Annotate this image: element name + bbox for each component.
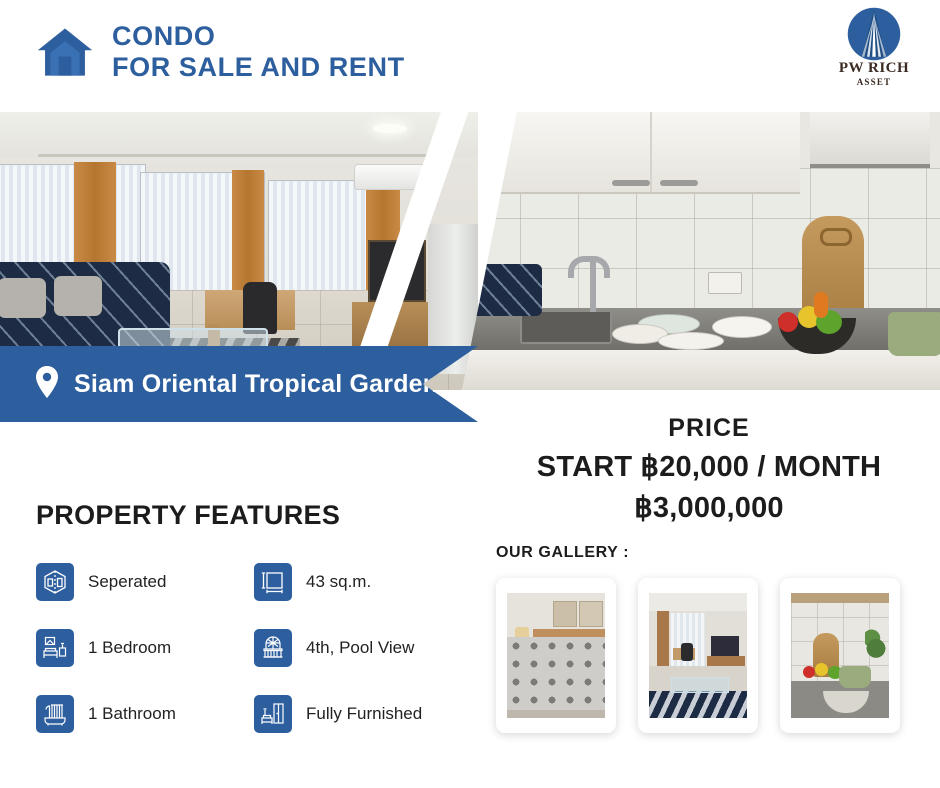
gallery-title: OUR GALLERY : [496, 544, 926, 562]
living-room-thumbnail [649, 593, 747, 718]
hero-kitchen-image [462, 112, 940, 390]
features-grid: Seperated 43 sq.m. [36, 563, 466, 733]
area-square-icon [254, 563, 292, 601]
feature-label: Seperated [88, 572, 166, 592]
feature-label: 1 Bathroom [88, 704, 176, 724]
feature-item-area: 43 sq.m. [254, 563, 472, 601]
feature-item-bathroom: 1 Bathroom [36, 695, 254, 733]
property-features-section: PROPERTY FEATURES Seperated [36, 500, 466, 733]
feature-item-seperated: Seperated [36, 563, 254, 601]
page-header: CONDO FOR SALE AND RENT PW RICH ASSET [0, 0, 940, 112]
gallery-row [496, 578, 926, 733]
furniture-icon [254, 695, 292, 733]
bedroom-thumbnail [507, 593, 605, 718]
feature-item-floor-view: 4th, Pool View [254, 629, 472, 667]
company-logo: PW RICH ASSET [830, 6, 918, 87]
gallery-card-living-room[interactable] [638, 578, 758, 733]
price-block: PRICE START ฿20,000 / MONTH ฿3,000,000 [478, 414, 940, 525]
feature-label: 4th, Pool View [306, 638, 414, 658]
feature-item-bedroom: 1 Bedroom [36, 629, 254, 667]
arched-window-icon [254, 629, 292, 667]
bed-icon [36, 629, 74, 667]
map-pin-icon [34, 366, 60, 403]
room-cube-icon [36, 563, 74, 601]
company-name: PW RICH [830, 60, 918, 77]
gallery-section: OUR GALLERY : [496, 544, 926, 733]
house-icon [36, 23, 94, 81]
feature-label: Fully Furnished [306, 704, 422, 724]
features-title: PROPERTY FEATURES [36, 500, 466, 531]
tower-emblem-icon [830, 6, 918, 62]
feature-label: 43 sq.m. [306, 572, 371, 592]
kitchen-thumbnail [791, 593, 889, 718]
brand-title-line2: FOR SALE AND RENT [112, 53, 405, 82]
brand-title-line1: CONDO [112, 22, 405, 51]
price-sale: ฿3,000,000 [478, 490, 940, 525]
price-rent: START ฿20,000 / MONTH [478, 449, 940, 484]
feature-label: 1 Bedroom [88, 638, 171, 658]
gallery-card-kitchen[interactable] [780, 578, 900, 733]
gallery-card-bedroom[interactable] [496, 578, 616, 733]
bathtub-icon [36, 695, 74, 733]
location-banner: Siam Oriental Tropical Garden [0, 346, 478, 422]
company-subname: ASSET [830, 77, 918, 87]
brand-block: CONDO FOR SALE AND RENT [36, 22, 405, 82]
price-label: PRICE [478, 414, 940, 443]
feature-item-furnished: Fully Furnished [254, 695, 472, 733]
location-name: Siam Oriental Tropical Garden [74, 370, 438, 399]
brand-title: CONDO FOR SALE AND RENT [112, 22, 405, 82]
